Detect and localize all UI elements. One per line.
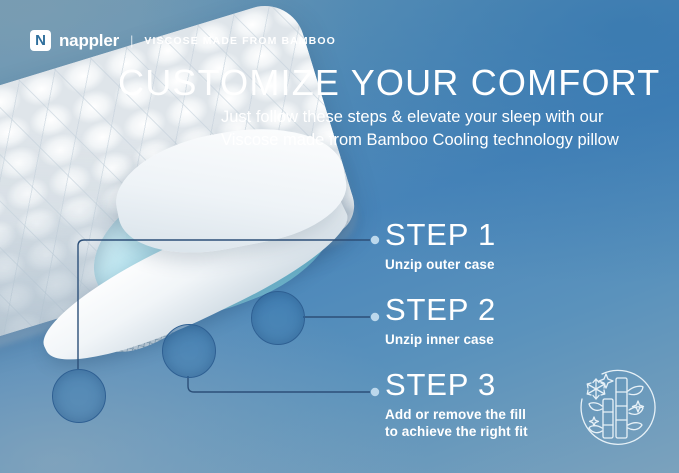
nappler-logo-icon: N — [30, 30, 51, 51]
pillow-tag-label: bamboo — [0, 121, 2, 177]
step-1-title: STEP 1 — [385, 219, 496, 252]
step-1-description: Unzip outer case — [385, 256, 496, 273]
page-subtitle: Just follow these steps & elevate your s… — [221, 106, 641, 153]
step-3-description: Add or remove the fill to achieve the ri… — [385, 406, 528, 441]
pillow-shredded-foam-fill — [72, 129, 356, 349]
connector-dot-step-1 — [371, 236, 379, 244]
callout-circle-step-3 — [162, 324, 216, 378]
step-block-3: STEP 3 Add or remove the fill to achieve… — [385, 369, 528, 440]
pillow-quilted-cover — [0, 0, 362, 348]
brand-header: N nappler | VISCOSE MADE FROM BAMBOO — [30, 30, 336, 51]
connector-line-step-1 — [78, 240, 370, 369]
brand-name: nappler — [59, 31, 119, 51]
step-2-description: Unzip inner case — [385, 331, 496, 348]
brand-tagline: VISCOSE MADE FROM BAMBOO — [144, 35, 336, 47]
header-divider: | — [130, 33, 133, 48]
connector-dot-step-3 — [371, 388, 379, 396]
callout-circle-step-1 — [52, 369, 106, 423]
callout-circle-step-2 — [251, 291, 305, 345]
step-block-2: STEP 2 Unzip inner case — [385, 294, 496, 348]
step-2-title: STEP 2 — [385, 294, 496, 327]
infographic-canvas: bamboo N nappler | VISCOSE MADE FROM BAM… — [0, 0, 679, 473]
connector-dot-step-2 — [371, 313, 379, 321]
step-3-title: STEP 3 — [385, 369, 528, 402]
connector-line-step-3 — [188, 376, 370, 392]
bamboo-cooling-badge-icon — [572, 365, 658, 451]
step-block-1: STEP 1 Unzip outer case — [385, 219, 496, 273]
page-title: CUSTOMIZE YOUR COMFORT — [118, 62, 660, 104]
